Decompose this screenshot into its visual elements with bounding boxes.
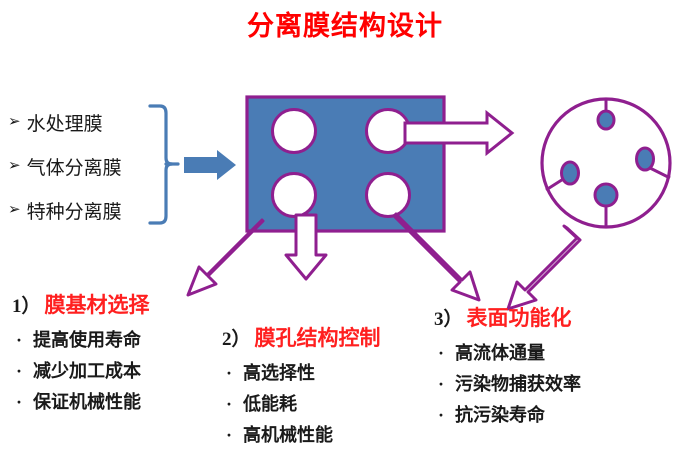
list-item: · 保证机械性能: [16, 391, 150, 413]
membrane-cross-section: [247, 97, 444, 231]
pore-node-right: [637, 148, 654, 170]
list-item: · 低能耗: [226, 393, 381, 415]
block-2-title: 膜孔结构控制: [255, 325, 381, 351]
block-3-title: 表面功能化: [467, 305, 572, 331]
dot-bullet-icon: ·: [438, 375, 444, 393]
pore-node-left: [562, 162, 579, 184]
list-item-label: 抗污染寿命: [455, 404, 545, 426]
list-item-label: 污染物捕获效率: [455, 373, 581, 395]
zoom-arrow: [405, 113, 512, 153]
category-item-label: 气体分离膜: [27, 153, 122, 180]
block-3-number: 3）: [434, 307, 463, 333]
pore-detail-view: [542, 99, 670, 227]
block-2-number: 2）: [222, 327, 251, 353]
block-1-heading: 1） 膜基材选择: [12, 292, 150, 320]
design-block-2: 2） 膜孔结构控制 · 高选择性 · 低能耗 · 高机械性能: [222, 325, 381, 455]
category-item-label: 水处理膜: [27, 109, 103, 136]
pore-top-left: [273, 110, 316, 153]
list-item: · 高流体通量: [438, 342, 581, 364]
category-list: ➢ 水处理膜 ➢ 气体分离膜 ➢ 特种分离膜: [8, 100, 138, 232]
pore-node-bottom: [595, 184, 617, 206]
list-item: · 高机械性能: [226, 424, 381, 446]
list-item-label: 高流体通量: [455, 342, 545, 364]
category-item-2: ➢ 特种分离膜: [8, 188, 138, 232]
rect-to-block3-arrow: [394, 214, 479, 300]
pore-bottom-left: [273, 174, 316, 217]
list-item: · 减少加工成本: [16, 360, 150, 382]
arrow-bullet-icon: ➢: [8, 115, 21, 130]
block-2-heading: 2） 膜孔结构控制: [222, 325, 381, 353]
dot-bullet-icon: ·: [16, 362, 22, 380]
circle-to-block3-arrow: [508, 226, 580, 309]
list-item: · 抗污染寿命: [438, 404, 581, 426]
list-item: · 提高使用寿命: [16, 329, 150, 351]
slide-canvas: 分离膜结构设计: [0, 0, 690, 463]
dot-bullet-icon: ·: [16, 393, 22, 411]
pore-node-top: [598, 111, 614, 129]
list-item: · 污染物捕获效率: [438, 373, 581, 395]
page-title: 分离膜结构设计: [0, 10, 690, 42]
arrow-bullet-icon: ➢: [8, 159, 21, 174]
block-1-number: 1）: [12, 294, 41, 320]
design-block-3: 3） 表面功能化 · 高流体通量 · 污染物捕获效率 · 抗污染寿命: [434, 305, 581, 435]
list-item-label: 保证机械性能: [33, 391, 141, 413]
dot-bullet-icon: ·: [16, 331, 22, 349]
category-brace: [150, 106, 178, 223]
list-item-label: 减少加工成本: [33, 360, 141, 382]
category-item-label: 特种分离膜: [27, 197, 122, 224]
pore-bottom-right: [367, 174, 410, 217]
design-block-1: 1） 膜基材选择 · 提高使用寿命 · 减少加工成本 · 保证机械性能: [12, 292, 150, 422]
category-item-0: ➢ 水处理膜: [8, 100, 138, 144]
block-1-title: 膜基材选择: [45, 292, 150, 318]
block-3-heading: 3） 表面功能化: [434, 305, 581, 333]
list-item-label: 高机械性能: [243, 424, 333, 446]
rect-to-block2-arrow: [286, 215, 326, 279]
dot-bullet-icon: ·: [226, 364, 232, 382]
arrow-bullet-icon: ➢: [8, 203, 21, 218]
list-item-label: 高选择性: [243, 362, 315, 384]
pore-top-right: [367, 110, 410, 153]
dot-bullet-icon: ·: [438, 344, 444, 362]
input-arrow: [184, 150, 236, 180]
dot-bullet-icon: ·: [226, 395, 232, 413]
list-item-label: 提高使用寿命: [33, 329, 141, 351]
category-item-1: ➢ 气体分离膜: [8, 144, 138, 188]
dot-bullet-icon: ·: [226, 426, 232, 444]
rect-to-block1-arrow: [188, 220, 271, 298]
dot-bullet-icon: ·: [438, 406, 444, 424]
list-item-label: 低能耗: [243, 393, 297, 415]
list-item: · 高选择性: [226, 362, 381, 384]
